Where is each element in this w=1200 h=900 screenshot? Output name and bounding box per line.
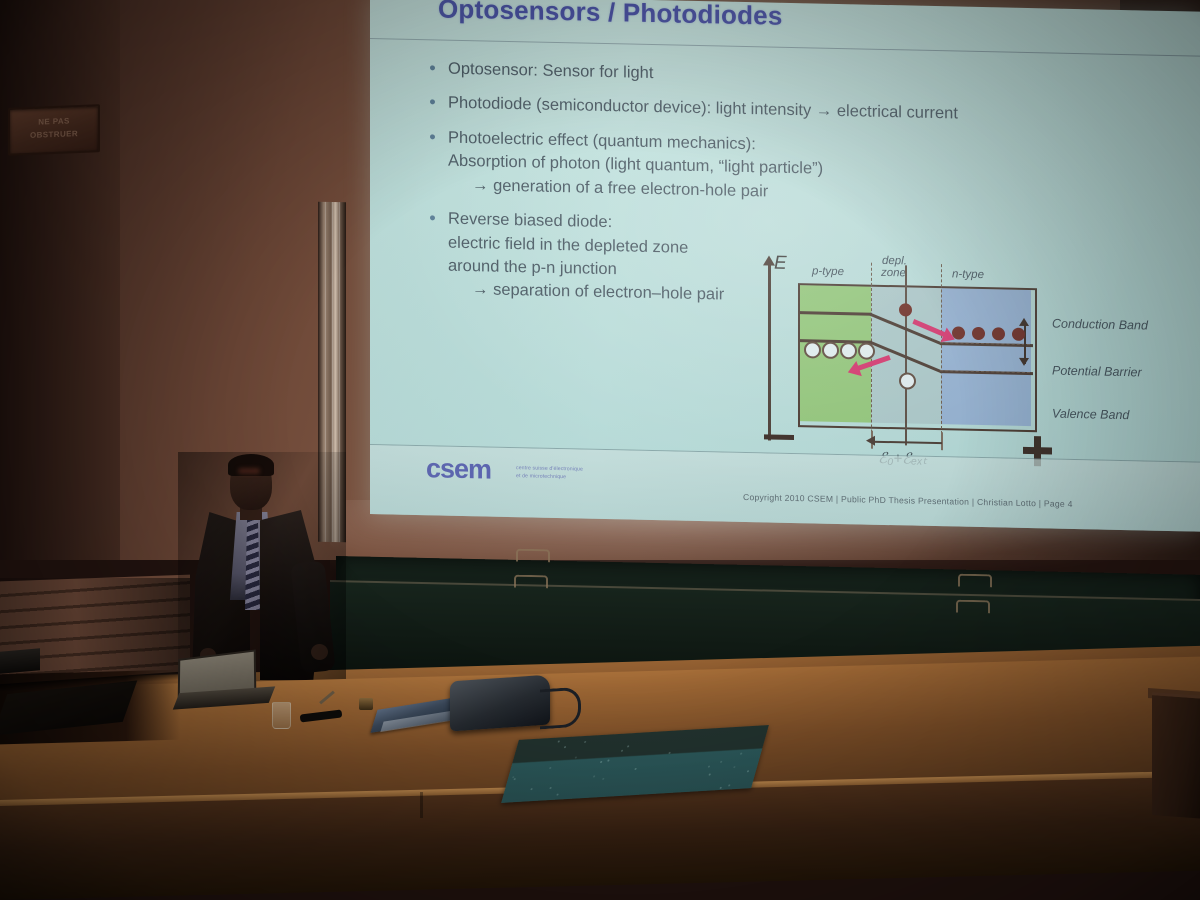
mat-speck xyxy=(575,757,578,759)
bullet-line: Photodiode (semiconductor device): light… xyxy=(448,92,1112,130)
wall-sign: NE PAS OBSTRUER xyxy=(8,104,100,156)
mat-speck xyxy=(739,753,742,755)
mat-speck xyxy=(634,768,637,770)
hole-dot xyxy=(899,372,916,389)
mat-speck xyxy=(549,787,552,789)
region-label-p-type: p-type xyxy=(812,265,844,278)
junction-boundary-right xyxy=(941,264,942,444)
mat-speck xyxy=(593,775,596,777)
mat-speck xyxy=(556,793,559,795)
mat-speck xyxy=(549,767,552,769)
label-potential-barrier: Potential Barrier xyxy=(1052,364,1142,380)
slide-title: Optosensors / Photodiodes xyxy=(438,0,782,32)
region-label-depl-1: depl. xyxy=(882,255,907,268)
energy-axis-label: E xyxy=(774,253,787,275)
mat-speck xyxy=(558,741,561,743)
hole-dot xyxy=(804,341,821,358)
hole-dot xyxy=(858,342,875,359)
hole-dot xyxy=(840,342,857,359)
label-valence-band: Valence Band xyxy=(1052,407,1129,423)
label-conduction-band: Conduction Band xyxy=(1052,317,1148,333)
blackboard-handle xyxy=(956,600,990,614)
bullet-item: Photoelectric effect (quantum mechanics)… xyxy=(422,126,1112,211)
laptop-bag xyxy=(450,675,550,732)
blackboard-handle xyxy=(516,549,550,563)
mat-speck xyxy=(720,787,723,789)
csem-tagline-line2: et de microtechnique xyxy=(516,473,583,482)
polarity-negative-icon xyxy=(764,434,794,440)
energy-axis xyxy=(768,262,771,440)
title-divider xyxy=(370,38,1200,57)
hole-dot xyxy=(822,342,839,359)
field-arrow-line xyxy=(872,441,942,444)
csem-logo-tagline: centre suisse d'électronique et de micro… xyxy=(516,465,583,482)
electron-dot xyxy=(1012,328,1025,341)
mat-speck xyxy=(709,774,712,776)
lectern xyxy=(1152,692,1200,819)
desk-seam xyxy=(420,792,423,818)
mat-speck xyxy=(600,761,603,763)
mat-speck xyxy=(627,746,630,748)
wall-sign-line2: OBSTRUER xyxy=(10,128,98,140)
mat-speck xyxy=(720,760,723,762)
potential-barrier-arrow-down-icon xyxy=(1019,358,1029,366)
mat-speck xyxy=(733,766,736,768)
mat-speck xyxy=(602,777,605,779)
equipment-box xyxy=(0,648,40,673)
electron-dot xyxy=(972,327,985,340)
blackboard-handle xyxy=(958,574,992,588)
electron-dot xyxy=(992,327,1005,340)
mat-speck xyxy=(514,778,517,780)
polarity-positive-icon-bar xyxy=(1023,447,1052,455)
region-label-depl-2: zone xyxy=(881,267,906,280)
lecture-hall-photo: NE PAS OBSTRUER Optosensors / Photodiode… xyxy=(0,0,1200,900)
csem-logo: csem xyxy=(426,453,491,485)
mat-speck xyxy=(746,770,749,772)
blackboard-handle xyxy=(514,575,548,589)
mat-speck xyxy=(607,759,610,761)
bullet-item: Photodiode (semiconductor device): light… xyxy=(422,92,1112,130)
mat-speck xyxy=(668,752,671,754)
small-container xyxy=(359,698,373,710)
slide: Optosensors / Photodiodes Optosensor: Se… xyxy=(370,0,1200,532)
mat-speck xyxy=(531,788,534,790)
mat-speck xyxy=(584,741,587,743)
mat-speck xyxy=(708,765,711,767)
left-wall xyxy=(0,0,120,560)
electron-dot xyxy=(899,303,912,316)
projection-screen: Optosensors / Photodiodes Optosensor: Se… xyxy=(370,0,1200,540)
bullet-line: Optosensor: Sensor for light xyxy=(448,58,1112,96)
mat-speck xyxy=(564,746,567,748)
wall-sign-line1: NE PAS xyxy=(10,115,98,127)
region-label-n-type: n-type xyxy=(952,268,984,281)
mat-speck xyxy=(728,784,731,786)
water-glass xyxy=(272,702,291,729)
mat-speck xyxy=(620,750,623,752)
bullet-item: Optosensor: Sensor for light xyxy=(422,57,1112,95)
